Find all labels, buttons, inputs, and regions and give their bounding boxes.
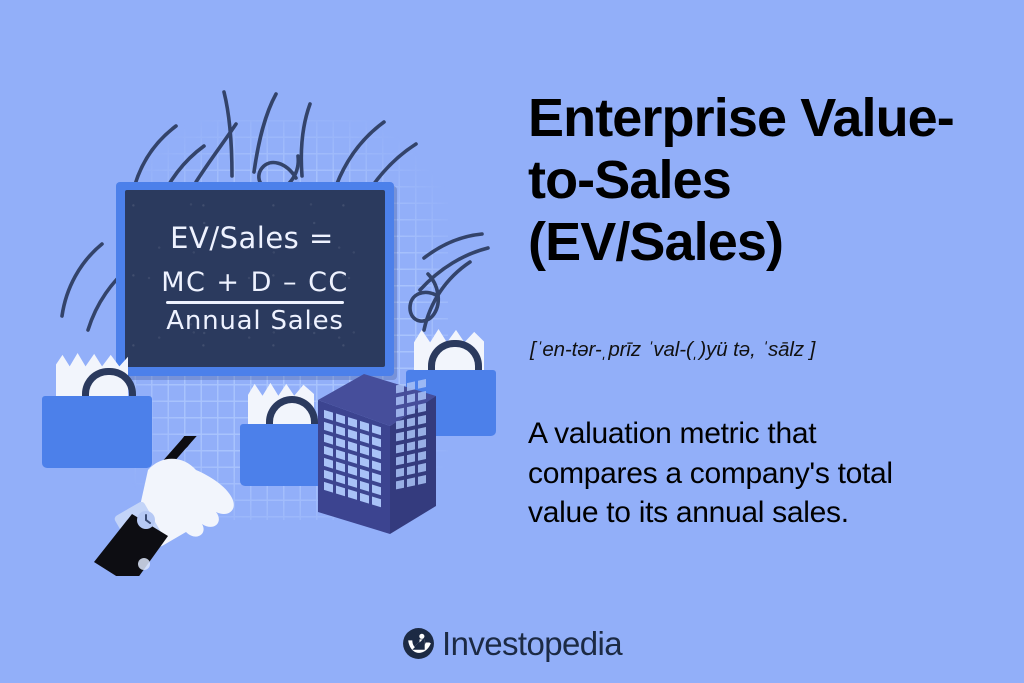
text-column: Enterprise Value-to-Sales (EV/Sales) [ˈe…: [528, 0, 998, 683]
brand-logo: Investopedia: [0, 627, 1024, 660]
bag-body-center: [240, 424, 326, 486]
definition-text: A valuation metric that compares a compa…: [528, 414, 918, 533]
fraction-bar: [166, 301, 344, 304]
formula-fraction: MC + D – CC Annual Sales: [161, 267, 349, 336]
formula-denominator: Annual Sales: [166, 306, 343, 336]
chalkboard-frame: EV/Sales = MC + D – CC Annual Sales: [116, 182, 394, 376]
chalkboard-formula: EV/Sales = MC + D – CC Annual Sales: [125, 190, 385, 367]
formula-numerator: MC + D – CC: [161, 267, 349, 298]
infographic-card: EV/Sales = MC + D – CC Annual Sales: [0, 0, 1024, 683]
investopedia-swoosh-icon: [402, 627, 435, 660]
chalkboard-surface: EV/Sales = MC + D – CC Annual Sales: [125, 190, 385, 367]
formula-left-hand-side: EV/Sales =: [170, 221, 334, 255]
pointer-hand: [92, 436, 252, 576]
page-title: Enterprise Value-to-Sales (EV/Sales): [528, 88, 988, 273]
office-building: [318, 374, 436, 534]
brand-name: Investopedia: [442, 627, 622, 660]
pronunciation-text: [ˈen-tər-ˌprīz ˈval-(ˌ)yü tə, ˈsālz ]: [530, 338, 990, 362]
shopping-bag-center: [240, 382, 326, 486]
illustration: EV/Sales = MC + D – CC Annual Sales: [0, 0, 512, 620]
